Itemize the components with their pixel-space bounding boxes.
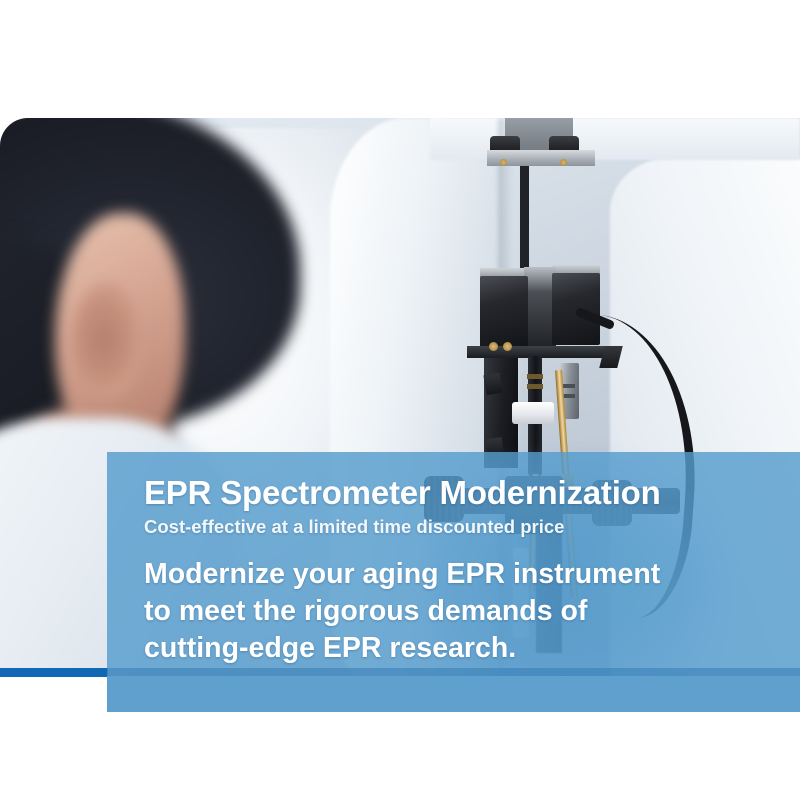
white-clamp (512, 402, 554, 424)
stem-ring-2 (527, 384, 543, 389)
banner-body-copy: Modernize your aging EPR instrument to m… (144, 556, 800, 667)
accent-strip (0, 668, 108, 677)
body-line-2: to meet the rigorous demands of (144, 593, 800, 630)
shelf-screw-1 (489, 342, 498, 351)
waveguide-mark-1 (562, 384, 575, 388)
body-line-1: Modernize your aging EPR instrument (144, 556, 800, 593)
body-line-3: cutting-edge EPR research. (144, 630, 800, 667)
shelf-screw-2 (503, 342, 512, 351)
stem-ring-1 (527, 374, 543, 379)
text-panel-content: EPR Spectrometer Modernization Cost-effe… (107, 452, 800, 712)
brass-fitting-1 (500, 159, 507, 166)
modulation-coil-left (480, 276, 528, 348)
cable-clip-upper (483, 373, 502, 395)
banner-headline: EPR Spectrometer Modernization (144, 476, 800, 509)
brass-fitting-2 (560, 159, 567, 166)
banner-subheadline: Cost-effective at a limited time discoun… (144, 518, 800, 537)
promotional-banner: EPR Spectrometer Modernization Cost-effe… (0, 0, 800, 800)
